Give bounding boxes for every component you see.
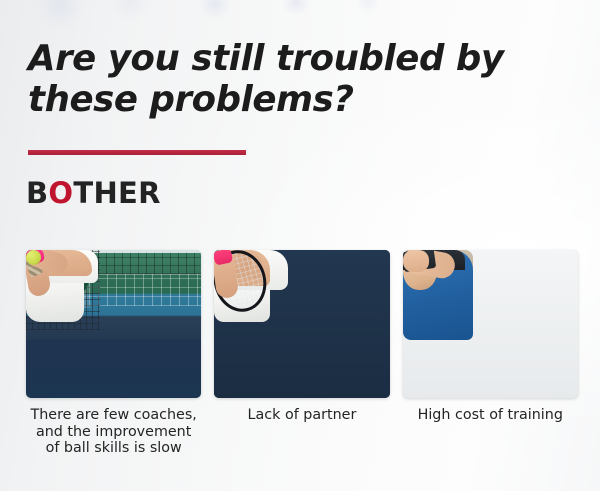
problem-card-list: There are few coaches, and the improveme… bbox=[26, 250, 578, 457]
card-caption: High cost of training bbox=[397, 407, 583, 424]
kicker-after: THER bbox=[73, 176, 160, 210]
accent-divider bbox=[28, 150, 246, 155]
female-tennis-player-crouching-by-net-image bbox=[214, 250, 389, 398]
kicker-highlight: O bbox=[48, 176, 73, 210]
kicker-before: B bbox=[26, 176, 48, 210]
problem-card: There are few coaches, and the improveme… bbox=[26, 250, 201, 457]
page-title: Are you still troubled by these problems… bbox=[28, 38, 568, 120]
poster: Are you still troubled by these problems… bbox=[0, 0, 600, 491]
female-tennis-player-sitting-by-net-image bbox=[26, 250, 201, 398]
man-hand bbox=[403, 250, 429, 272]
problem-card: High cost of training bbox=[403, 250, 578, 457]
card-caption: There are few coaches, and the improveme… bbox=[21, 407, 207, 457]
couple-worried-about-cost-image bbox=[403, 250, 578, 398]
kicker-word: BOTHER bbox=[26, 177, 161, 209]
problem-card: Lack of partner bbox=[214, 250, 389, 457]
tennis-ball bbox=[26, 250, 41, 265]
card-caption: Lack of partner bbox=[209, 407, 395, 424]
